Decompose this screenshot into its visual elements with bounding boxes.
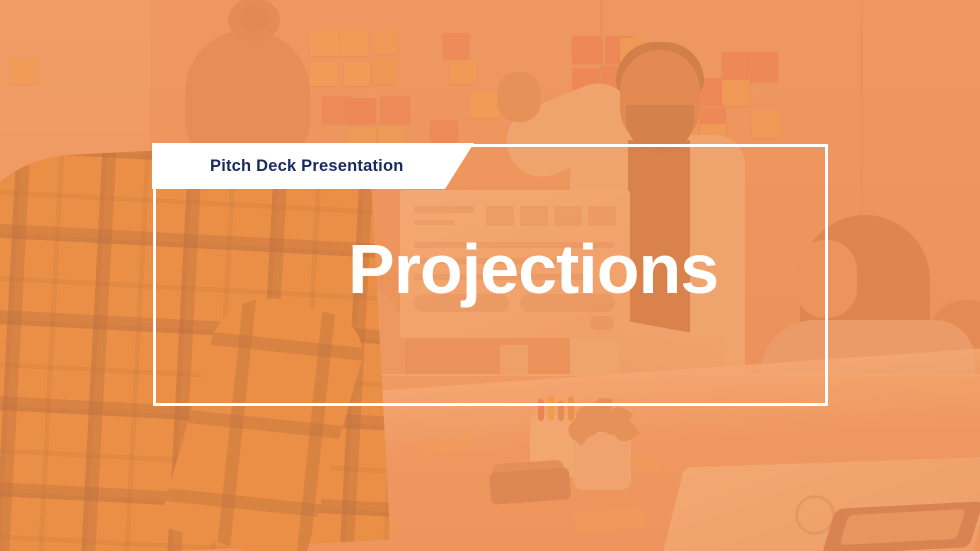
subtitle-banner: Pitch Deck Presentation: [152, 143, 474, 189]
subtitle-label: Pitch Deck Presentation: [210, 157, 404, 176]
presentation-slide: Pitch Deck Presentation Projections: [0, 0, 980, 551]
slide-title: Projections: [348, 234, 718, 304]
